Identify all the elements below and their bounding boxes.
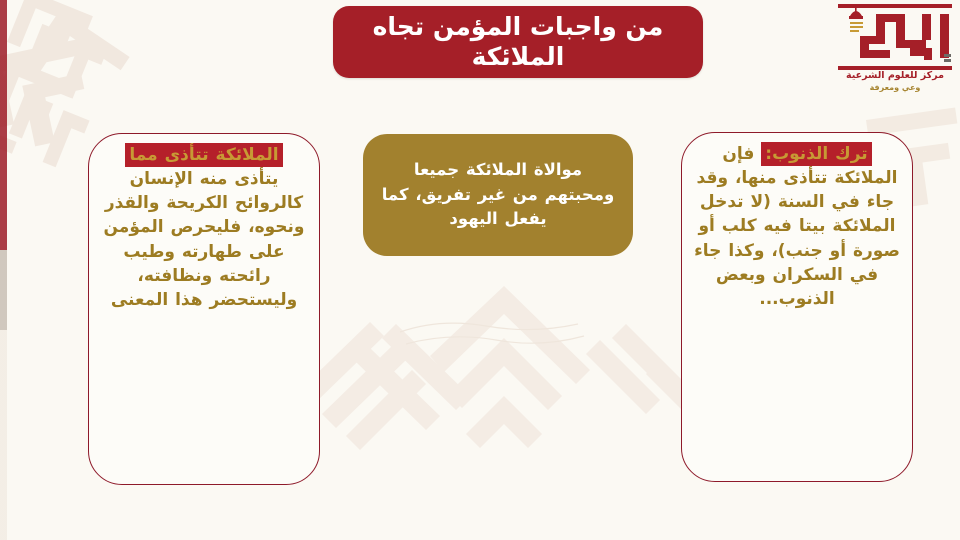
kufic-faint-script	[400, 323, 584, 344]
brand-logo[interactable]: مركز للعلوم الشرعية وعي ومعرفة	[836, 2, 954, 106]
card-right-text: فإن الملائكة تتأذى منها، وقد جاء في السن…	[694, 144, 900, 309]
mosque-dome-icon	[849, 7, 863, 32]
card-left-body: الملائكة تتأذى مما يتأذى منه الإنسان كال…	[89, 134, 319, 322]
card-left-text: يتأذى منه الإنسان كالروائح الكريحة والقذ…	[104, 169, 305, 310]
card-left-highlight: الملائكة تتأذى مما	[125, 143, 282, 167]
card-right-highlight: ترك الذنوب:	[761, 142, 871, 166]
card-angels-harmed[interactable]: الملائكة تتأذى مما يتأذى منه الإنسان كال…	[88, 133, 320, 485]
slide-root: من واجبات المؤمن تجاه الملائكة	[0, 0, 960, 540]
card-right-body: ترك الذنوب: فإن الملائكة تتأذى منها، وقد…	[682, 133, 912, 321]
card-center-body: موالاة الملائكة جميعا ومحبتهم من غير تفر…	[363, 142, 633, 248]
left-edge-ribbon	[0, 0, 7, 540]
logo-subtitle-secondary: وعي ومعرفة	[836, 83, 954, 92]
logo-subtitle-primary: مركز للعلوم الشرعية	[836, 70, 954, 81]
card-loyalty-to-angels[interactable]: موالاة الملائكة جميعا ومحبتهم من غير تفر…	[363, 134, 633, 256]
slide-title-banner: من واجبات المؤمن تجاه الملائكة	[333, 6, 703, 78]
card-abandon-sins[interactable]: ترك الذنوب: فإن الملائكة تتأذى منها، وقد…	[681, 132, 913, 482]
ihkam-wordmark-icon	[836, 2, 954, 74]
page-title: من واجبات المؤمن تجاه الملائكة	[333, 12, 703, 73]
